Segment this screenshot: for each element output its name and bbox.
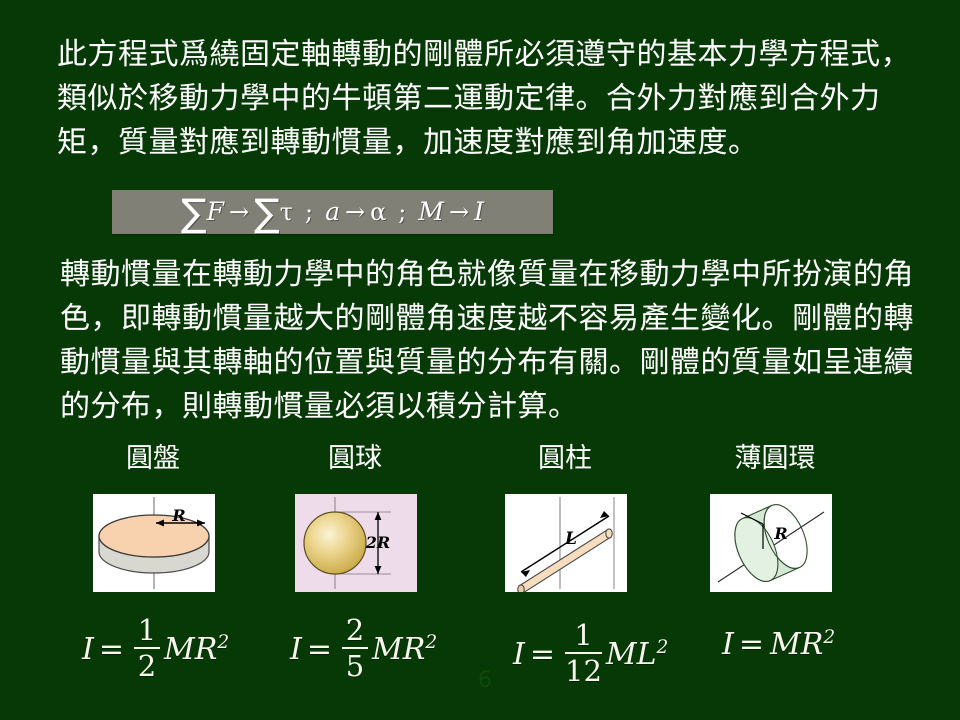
correspondence-formula-row: ∑ F → ∑ τ ; a → α ; M → I (181, 197, 484, 227)
symbol-force: F (207, 197, 224, 226)
arrow-right-icon-1: → (224, 198, 254, 226)
paragraph-rotational-equation: 此方程式爲繞固定軸轉動的剛體所必須遵守的基本力學方程式，類似於移動力學中的牛頓第… (57, 33, 917, 165)
equation-disk-numerator: 1 (138, 616, 156, 647)
symbol-mass: M (418, 197, 444, 226)
equation-ring-equals: = (739, 627, 764, 662)
equation-sphere-fraction: 2 5 (342, 616, 368, 681)
separator-2: ; (386, 198, 418, 226)
diagram-panel-sphere: 2R (295, 494, 417, 592)
symbol-inertia: I (474, 197, 484, 226)
sphere-diameter-label: 2R (365, 533, 390, 552)
sphere-diagram: 2R (295, 494, 417, 592)
equation-cylinder-numerator: 1 (574, 621, 592, 652)
page-number: 6 (470, 668, 500, 693)
disk-radius-label: R (171, 506, 185, 525)
equation-cylinder-denominator: 12 (565, 654, 602, 686)
shape-label-cylinder: 圓柱 (505, 443, 625, 475)
equation-disk-rhs: MR2 (164, 632, 229, 667)
equation-ring: I = MR2 (722, 627, 835, 662)
equation-sphere-lhs: I (290, 632, 302, 667)
equation-disk: I = 1 2 MR2 (82, 617, 229, 682)
equation-disk-lhs: I (82, 632, 94, 667)
summation-icon-force: ∑ (181, 198, 207, 228)
equation-sphere: I = 2 5 MR2 (290, 617, 437, 682)
shape-label-disk: 圓盤 (93, 443, 213, 475)
disk-diagram: R (93, 494, 215, 592)
arrow-right-icon-2: → (340, 198, 370, 226)
diagram-panel-cylinder: L (505, 494, 627, 592)
rod-length-label: L (564, 529, 577, 549)
diagram-panel-disk: R (93, 494, 215, 592)
diagram-panel-ring: R (710, 494, 832, 592)
equation-sphere-numerator: 2 (346, 616, 364, 647)
equation-ring-lhs: I (722, 627, 734, 662)
equation-disk-fraction: 1 2 (134, 616, 160, 681)
ring-diagram: R (710, 494, 832, 592)
shape-label-ring: 薄圓環 (710, 443, 840, 475)
equation-sphere-denominator: 5 (346, 649, 364, 681)
separator-1: ; (293, 198, 325, 226)
equation-cylinder-fraction: 1 12 (565, 621, 602, 686)
equation-sphere-equals: = (307, 632, 332, 667)
arrow-right-icon-3: → (444, 198, 474, 226)
equation-cylinder-equals: = (530, 637, 555, 672)
equation-cylinder: I = 1 12 ML2 (513, 622, 668, 687)
equation-sphere-rhs: MR2 (372, 632, 437, 667)
symbol-acceleration: a (325, 197, 340, 226)
equation-disk-equals: = (99, 632, 124, 667)
equation-disk-denominator: 2 (138, 649, 156, 681)
summation-icon-torque: ∑ (254, 198, 280, 228)
symbol-alpha: α (370, 198, 386, 226)
ring-radius-label: R (773, 524, 787, 543)
rod-diagram: L (505, 494, 627, 592)
slide-canvas: 此方程式爲繞固定軸轉動的剛體所必須遵守的基本力學方程式，類似於移動力學中的牛頓第… (0, 0, 960, 720)
symbol-tau: τ (280, 198, 293, 226)
equation-cylinder-lhs: I (513, 637, 525, 672)
correspondence-formula-bar: ∑ F → ∑ τ ; a → α ; M → I (112, 190, 553, 234)
shape-label-sphere: 圓球 (295, 443, 415, 475)
paragraph-moment-of-inertia: 轉動慣量在轉動力學中的角色就像質量在移動力學中所扮演的角色，即轉動慣量越大的剛體… (60, 253, 920, 429)
equation-ring-rhs: MR2 (770, 627, 835, 662)
equation-cylinder-rhs: ML2 (606, 637, 668, 672)
